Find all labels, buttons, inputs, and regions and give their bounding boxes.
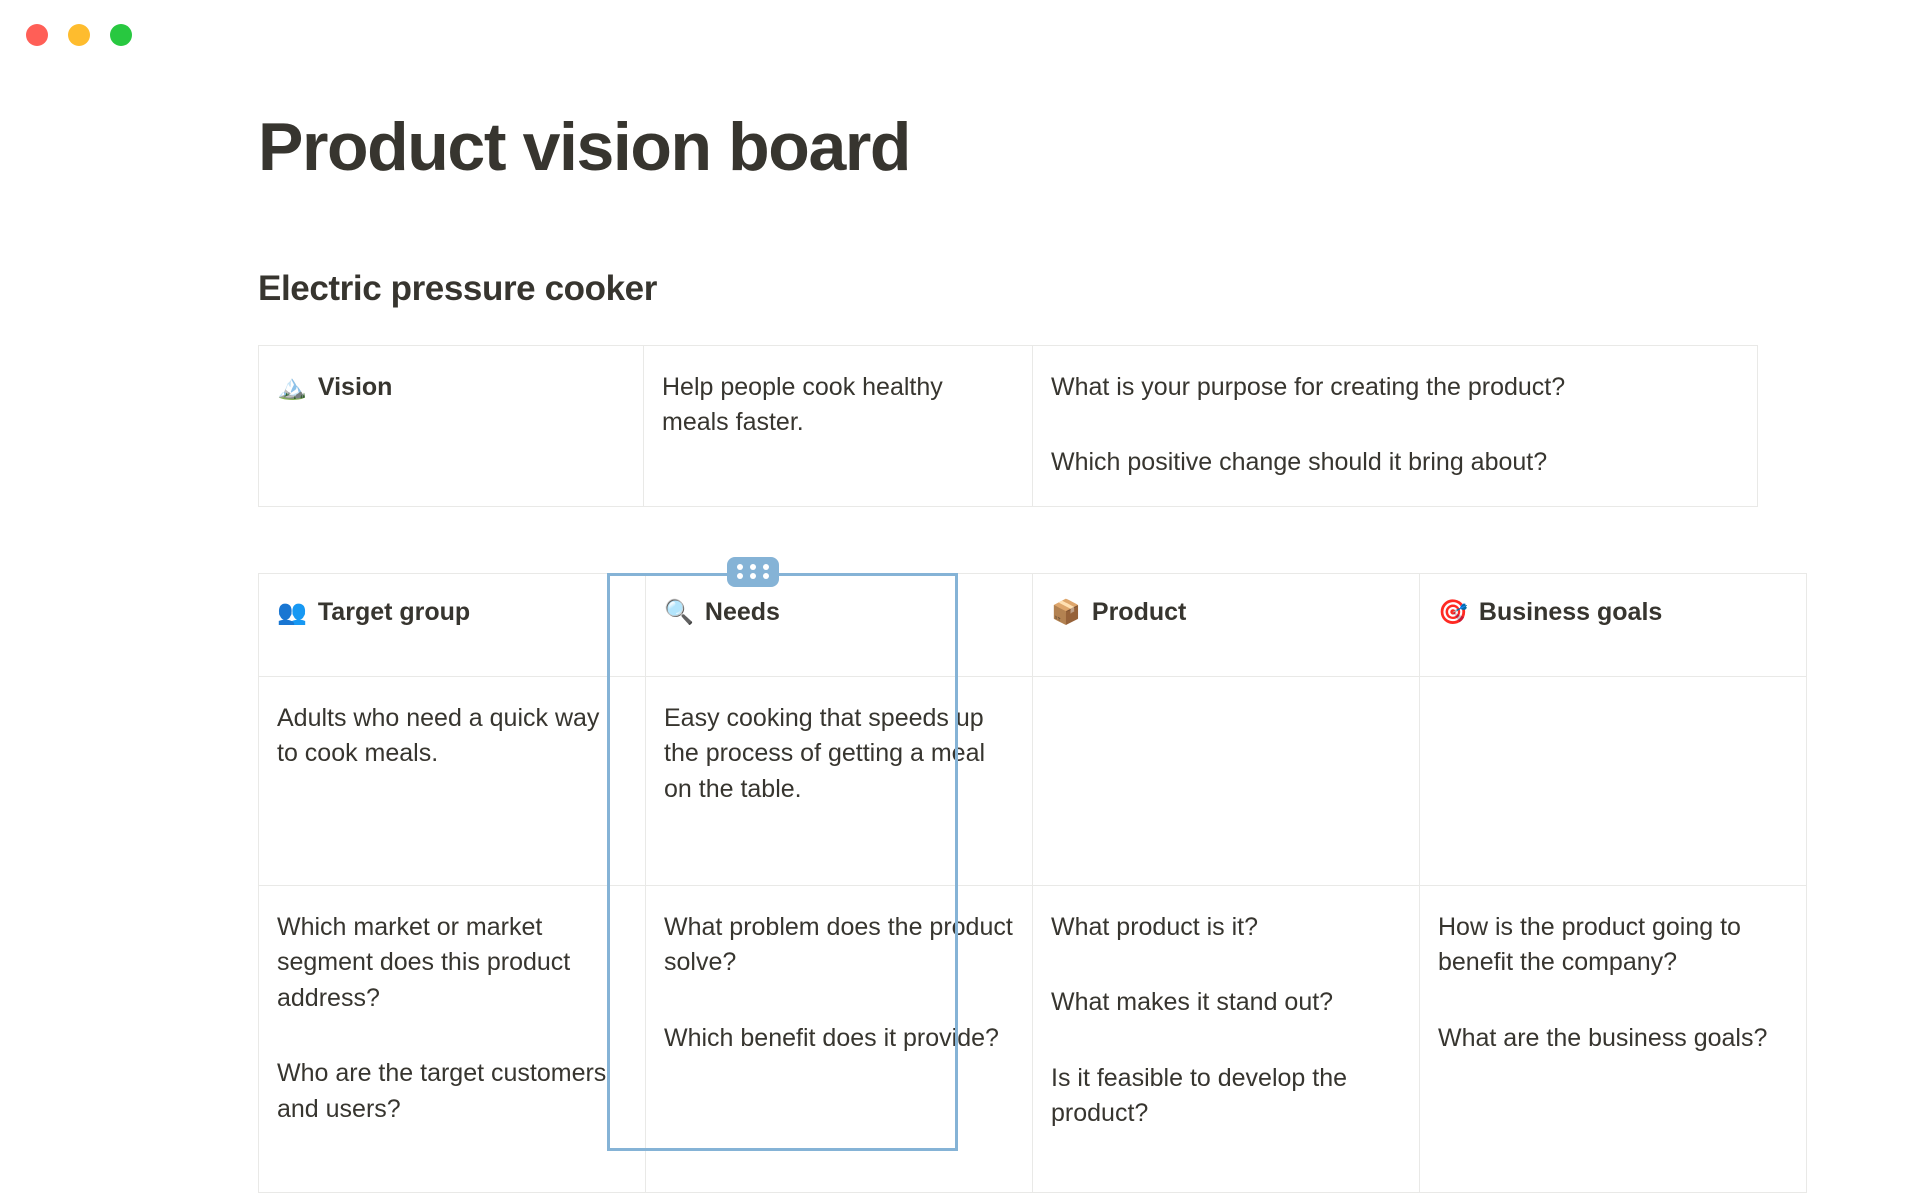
column-header-label: Needs	[705, 598, 780, 626]
vision-header-label: Vision	[318, 373, 393, 401]
column-header-label: Business goals	[1479, 598, 1662, 626]
placeholder-line: Which benefit does it provide?	[664, 1021, 1014, 1057]
busts-in-silhouette-icon: 👥	[277, 599, 307, 626]
placeholder-line: How is the product going to benefit the …	[1438, 910, 1788, 981]
table-row: Adults who need a quick way to cook meal…	[259, 676, 1807, 885]
vision-placeholder-cell[interactable]: What is your purpose for creating the pr…	[1033, 345, 1758, 506]
value-cell-product[interactable]	[1033, 676, 1420, 885]
vision-value-cell[interactable]: Help people cook healthy meals faster.	[644, 345, 1033, 506]
magnifying-glass-icon: 🔍	[664, 599, 694, 626]
value-cell-needs[interactable]: Easy cooking that speeds up the process …	[646, 676, 1033, 885]
placeholder-cell-business-goals[interactable]: How is the product going to benefit the …	[1420, 885, 1807, 1192]
value-cell-business-goals[interactable]	[1420, 676, 1807, 885]
handle-dot	[750, 573, 756, 579]
placeholder-line: What makes it stand out?	[1051, 985, 1401, 1021]
column-header-label: Product	[1092, 598, 1186, 626]
placeholder-line: What product is it?	[1051, 910, 1401, 946]
placeholder-line: What is your purpose for creating the pr…	[1051, 370, 1739, 406]
column-drag-handle[interactable]	[727, 557, 779, 587]
document-content: Product vision board Electric pressure c…	[258, 110, 1678, 1193]
section-title[interactable]: Electric pressure cooker	[258, 269, 1678, 309]
handle-dot	[763, 573, 769, 579]
close-window-button[interactable]	[26, 24, 48, 46]
column-header-target-group[interactable]: 👥Target group	[259, 573, 646, 676]
handle-dot	[737, 573, 743, 579]
placeholder-cell-needs[interactable]: What problem does the product solve? Whi…	[646, 885, 1033, 1192]
mountain-icon: 🏔️	[277, 374, 307, 401]
placeholder-line: Which positive change should it bring ab…	[1051, 445, 1739, 481]
app-window: Product vision board Electric pressure c…	[0, 0, 1920, 1200]
table-header-row: 👥Target group 🔍Needs 📦Product 🎯Business …	[259, 573, 1807, 676]
vision-board-grid-wrapper: 👥Target group 🔍Needs 📦Product 🎯Business …	[258, 573, 1658, 1193]
table-row: Which market or market segment does this…	[259, 885, 1807, 1192]
minimize-window-button[interactable]	[68, 24, 90, 46]
package-icon: 📦	[1051, 599, 1081, 626]
placeholder-line: Who are the target customers and users?	[277, 1056, 627, 1127]
maximize-window-button[interactable]	[110, 24, 132, 46]
handle-dot	[763, 564, 769, 570]
vision-header-cell[interactable]: 🏔️Vision	[259, 345, 644, 506]
column-header-product[interactable]: 📦Product	[1033, 573, 1420, 676]
window-controls	[26, 24, 132, 46]
placeholder-line: Which market or market segment does this…	[277, 910, 627, 1017]
column-header-label: Target group	[318, 598, 470, 626]
column-header-needs[interactable]: 🔍Needs	[646, 573, 1033, 676]
vision-board-grid: 👥Target group 🔍Needs 📦Product 🎯Business …	[258, 573, 1807, 1193]
handle-dot	[737, 564, 743, 570]
placeholder-cell-product[interactable]: What product is it? What makes it stand …	[1033, 885, 1420, 1192]
placeholder-line: What problem does the product solve?	[664, 910, 1014, 981]
page-title[interactable]: Product vision board	[258, 110, 1678, 185]
placeholder-line: Is it feasible to develop the product?	[1051, 1061, 1401, 1132]
placeholder-cell-target-group[interactable]: Which market or market segment does this…	[259, 885, 646, 1192]
dart-icon: 🎯	[1438, 599, 1468, 626]
placeholder-line: What are the business goals?	[1438, 1021, 1788, 1057]
vision-table: 🏔️Vision Help people cook healthy meals …	[258, 345, 1758, 507]
table-row: 🏔️Vision Help people cook healthy meals …	[259, 345, 1758, 506]
value-cell-target-group[interactable]: Adults who need a quick way to cook meal…	[259, 676, 646, 885]
handle-dot	[750, 564, 756, 570]
column-header-business-goals[interactable]: 🎯Business goals	[1420, 573, 1807, 676]
